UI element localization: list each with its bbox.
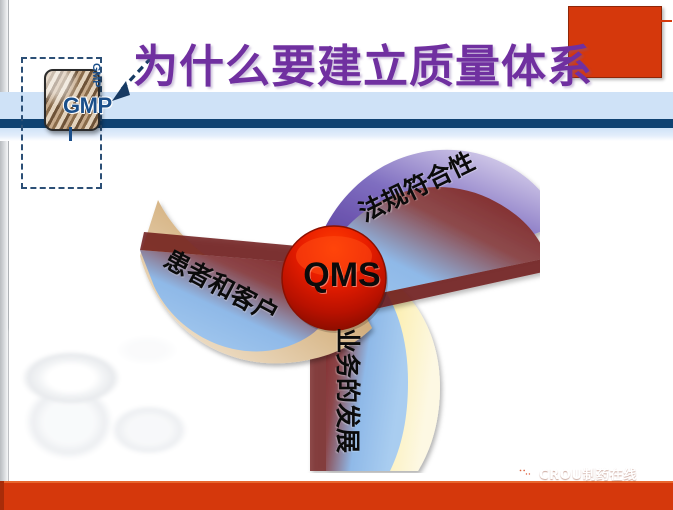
bottom-accent-bar [0, 481, 673, 510]
gmp-stem-line [69, 127, 72, 141]
blade-bottom-label: 业务的发展 [331, 328, 367, 453]
gmp-logo: GMP GMP [44, 69, 96, 127]
watermark: CROU制药在线 [516, 461, 637, 485]
qms-center-label: QMS [292, 256, 392, 295]
watermark-text: CROU制药在线 [539, 464, 637, 483]
page-title: 为什么要建立质量体系 [133, 30, 573, 95]
wechat-icon [516, 466, 533, 480]
red-tick-mark [661, 20, 672, 22]
slide-canvas: GMP GMP 为什么要建立质量体系 [0, 0, 673, 510]
bottom-bar-left-edge [0, 481, 4, 510]
